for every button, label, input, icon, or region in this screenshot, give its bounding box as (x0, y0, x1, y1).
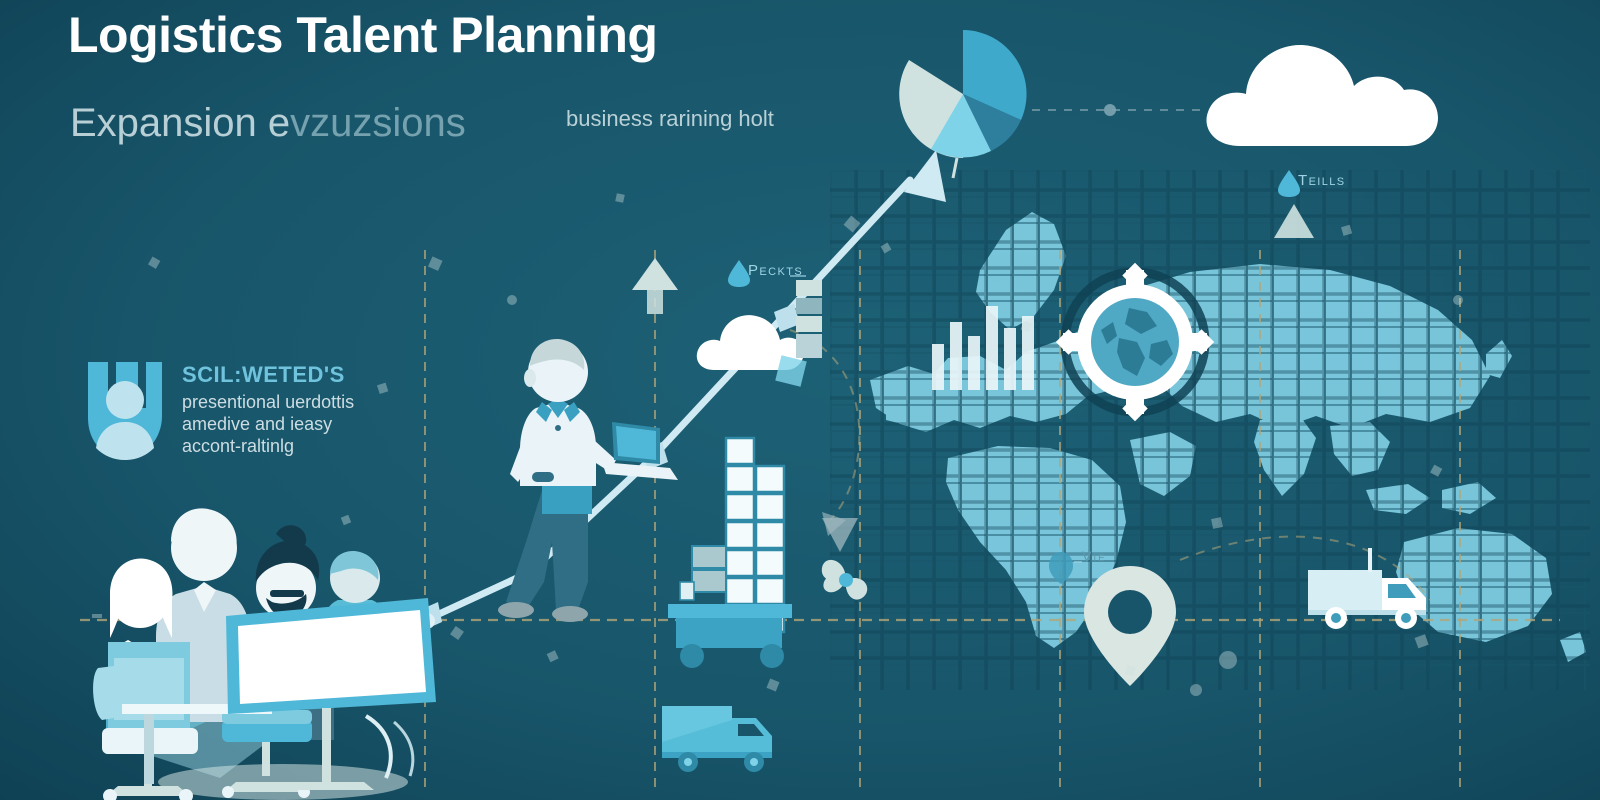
info-card-line-3: accont-raltinlg (182, 436, 422, 458)
info-card-line-1: presentional uerdottis (182, 392, 422, 414)
map-label-teills: Teills (1298, 172, 1346, 189)
page-title: Logistics Talent Planning (68, 8, 968, 63)
info-card-line-2: amedive and ieasy (182, 414, 422, 436)
page-subtitle: Expansion evzuzsions (70, 100, 630, 146)
subtitle-ghost: vzuzsions (290, 101, 466, 145)
map-label-vie: Vie (1082, 548, 1107, 564)
subtitle-main: Expansion e (70, 101, 290, 145)
page-tagline: business rarining holt (566, 106, 996, 132)
info-card-body: presentional uerdottis amedive and ieasy… (182, 392, 422, 458)
poster-canvas: Logistics Talent Planning Expansion evzu… (0, 0, 1600, 800)
info-card-title: SCIL:WETED'S (182, 362, 345, 388)
map-label-peckts: Peckts (748, 262, 803, 279)
